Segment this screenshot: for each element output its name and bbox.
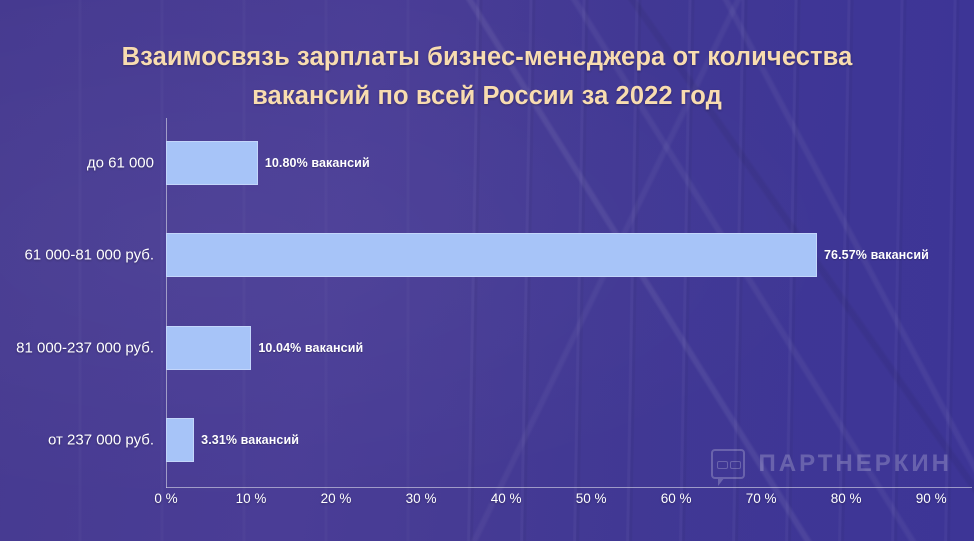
chart-screenshot: Взаимосвязь зарплаты бизнес-менеджера от… [0, 0, 974, 541]
bar-row: 81 000-237 000 руб.10.04% вакансий [166, 326, 972, 370]
x-axis-tick-label: 30 % [406, 491, 437, 506]
bar-row: до 61 00010.80% вакансий [166, 141, 972, 185]
bar[interactable] [166, 141, 258, 185]
bar-row: от 237 000 руб.3.31% вакансий [166, 418, 972, 462]
bar[interactable] [166, 233, 817, 277]
x-axis-tick-label: 40 % [491, 491, 522, 506]
bar-value-label: 10.04% вакансий [258, 341, 363, 355]
x-axis-tick-label: 50 % [576, 491, 607, 506]
x-axis-tick-label: 60 % [661, 491, 692, 506]
category-label: 81 000-237 000 руб. [16, 339, 154, 356]
bar-row: 61 000-81 000 руб.76.57% вакансий [166, 233, 972, 277]
bar[interactable] [166, 418, 194, 462]
bar-value-label: 10.80% вакансий [265, 156, 370, 170]
bar-value-label: 3.31% вакансий [201, 433, 299, 447]
category-label: от 237 000 руб. [48, 431, 154, 448]
plot-area: до 61 00010.80% вакансий61 000-81 000 ру… [166, 118, 972, 487]
bar[interactable] [166, 326, 251, 370]
category-label: до 61 000 [87, 155, 154, 172]
x-axis-tick-label: 10 % [236, 491, 267, 506]
bar-chart: до 61 00010.80% вакансий61 000-81 000 ру… [0, 0, 974, 541]
x-axis-tick-label: 90 % [916, 491, 947, 506]
x-axis-tick-label: 20 % [321, 491, 352, 506]
x-axis-line [166, 487, 972, 488]
x-axis-tick-label: 70 % [746, 491, 777, 506]
bar-value-label: 76.57% вакансий [824, 248, 929, 262]
x-axis-tick-label: 80 % [831, 491, 862, 506]
category-label: 61 000-81 000 руб. [24, 247, 154, 264]
x-axis-tick-label: 0 % [154, 491, 177, 506]
